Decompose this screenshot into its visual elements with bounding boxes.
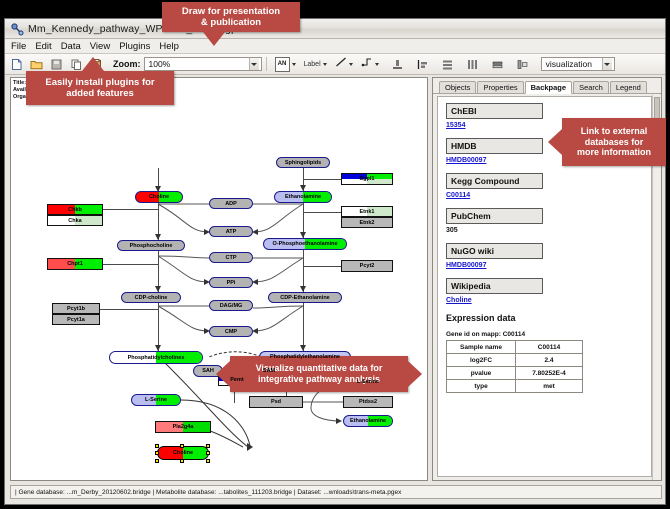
text-label-icon: AN: [275, 57, 290, 72]
visualization-combo[interactable]: visualization: [541, 57, 615, 71]
db-header-kegg-compound: Kegg Compound: [446, 173, 543, 189]
menubar: File Edit Data View Plugins Help: [5, 39, 665, 54]
tab-search[interactable]: Search: [573, 81, 609, 94]
node-cdp-choline[interactable]: CDP-choline: [121, 292, 181, 303]
align-left-icon[interactable]: [414, 56, 431, 73]
gene-pcyt2[interactable]: Pcyt2: [341, 260, 393, 272]
pathvisio-icon: [10, 22, 24, 36]
text-label-tool[interactable]: AN: [275, 57, 296, 72]
node-choline-selected[interactable]: Choline: [157, 446, 209, 460]
expression-data-table: Sample name C00114 log2FC 2.4 pvalue 7.8…: [446, 340, 583, 393]
node-label: CTP: [226, 255, 237, 261]
node-label: SAH: [202, 368, 214, 374]
selection-handle[interactable]: [155, 459, 159, 463]
db-link-nugo-wiki[interactable]: HMDB00097: [446, 262, 647, 269]
connector-tool[interactable]: [361, 55, 379, 73]
label-icon: Label: [304, 61, 321, 68]
menu-view[interactable]: View: [90, 41, 110, 52]
expression-data-title: Expression data: [446, 313, 647, 323]
db-link-kegg-compound[interactable]: C00114: [446, 192, 647, 199]
tab-objects[interactable]: Objects: [439, 81, 476, 94]
gene-label: Ptdss2: [359, 399, 377, 405]
gene-label: Psd: [271, 399, 281, 405]
gene-pla2g4a[interactable]: Pla2g4a: [155, 421, 211, 433]
visualization-value: visualization: [546, 59, 592, 69]
gene-label: Chka: [68, 218, 81, 224]
node-ppi[interactable]: PPi: [209, 277, 253, 288]
db-header-nugo-wiki: NuGO wiki: [446, 243, 543, 259]
new-file-icon[interactable]: [8, 56, 25, 73]
node-sphingolipids[interactable]: Sphingolipids: [276, 157, 330, 168]
gene-chpt1[interactable]: Chpt1: [47, 258, 103, 270]
callout-draw: Draw for presentation & publication: [162, 2, 300, 32]
table-row: pvalue 7.80252E-4: [447, 367, 583, 380]
callout-plugins-arrow-icon: [82, 57, 104, 71]
selection-handle[interactable]: [180, 459, 184, 463]
node-label: Phosphatidylethanolamine: [270, 354, 340, 360]
node-label: O-Phosphoethanolamine: [272, 241, 337, 247]
node-l-serine-left[interactable]: L-Serine: [131, 394, 181, 406]
callout-links-arrow-icon: [548, 129, 562, 155]
node-label: ATP: [226, 229, 237, 235]
node-label: Ethanolamine: [350, 418, 386, 424]
db-header-hmdb: HMDB: [446, 138, 543, 154]
status-bar: | Gene database: ...m_Derby_20120602.bri…: [10, 485, 662, 499]
selection-handle[interactable]: [155, 451, 159, 455]
distribute-vertical-icon[interactable]: [439, 56, 456, 73]
node-label: CMP: [225, 329, 237, 335]
node-label: L-Serine: [145, 397, 167, 403]
node-label: Choline: [173, 450, 193, 456]
menu-data[interactable]: Data: [61, 41, 81, 52]
table-row: Sample name C00114: [447, 341, 583, 354]
callout-draw-arrow-icon: [203, 32, 225, 46]
selection-handle[interactable]: [180, 444, 184, 448]
gene-etnk2[interactable]: Etnk2: [341, 217, 393, 228]
gene-pcyt1b[interactable]: Pcyt1b: [52, 303, 100, 314]
table-row: type met: [447, 380, 583, 393]
node-label: SAM: [263, 368, 275, 374]
distribute-horizontal-icon[interactable]: [464, 56, 481, 73]
node-dag-mg[interactable]: DAG/MG: [209, 300, 253, 311]
gene-label: Pla2g4a: [173, 424, 194, 430]
node-adp[interactable]: ADP: [209, 198, 253, 209]
callout-plugins: Easily install plugins for added feature…: [26, 71, 174, 105]
menu-edit[interactable]: Edit: [35, 41, 51, 52]
selection-handle[interactable]: [206, 444, 210, 448]
node-label: Phosphatidylcholines: [128, 355, 185, 361]
db-header-pubchem: PubChem: [446, 208, 543, 224]
gene-label: Sgpl1: [360, 176, 375, 182]
gene-label: Etnk2: [360, 220, 375, 226]
gene-etnk1[interactable]: Etnk1: [341, 206, 393, 217]
node-ethanolamine-right[interactable]: Ethanolamine: [343, 415, 393, 427]
db-header-chebi: ChEBI: [446, 103, 543, 119]
table-cell-value: met: [516, 380, 583, 393]
node-o-phosphoethanolamine[interactable]: O-Phosphoethanolamine: [263, 238, 347, 250]
node-label: CDP-choline: [135, 295, 168, 301]
selection-handle[interactable]: [206, 459, 210, 463]
node-cmp[interactable]: CMP: [209, 326, 253, 337]
screenshot-root: Mm_Kennedy_pathway_WP1771_45176.gpml Fil…: [0, 0, 670, 509]
node-label: DAG/MG: [220, 303, 243, 309]
node-phosphocholine[interactable]: Phosphocholine: [117, 240, 185, 251]
zoom-label: Zoom:: [113, 59, 141, 69]
align-bottom-icon[interactable]: [389, 56, 406, 73]
chevron-down-icon[interactable]: [602, 58, 612, 70]
node-ctp[interactable]: CTP: [209, 252, 253, 263]
menu-help[interactable]: Help: [159, 41, 179, 52]
chevron-down-icon[interactable]: [249, 58, 259, 70]
selection-handle[interactable]: [155, 444, 159, 448]
tab-backpage[interactable]: Backpage: [525, 81, 572, 95]
callout-links: Link to external databases for more info…: [562, 118, 666, 166]
gene-label: Pemt: [230, 377, 243, 383]
menu-plugins[interactable]: Plugins: [119, 41, 150, 52]
gene-label: Chpt1: [67, 261, 83, 267]
gene-sgpl1[interactable]: Sgpl1: [341, 173, 393, 185]
callout-visualize: Visualize quantitative data for integrat…: [230, 356, 408, 392]
line-tool[interactable]: [335, 55, 353, 73]
node-label: ADP: [225, 201, 237, 207]
node-label: Phosphocholine: [130, 243, 173, 249]
pathway-canvas[interactable]: Title: Availa Organ: [10, 77, 428, 481]
node-ethanolamine[interactable]: Ethanolamine: [274, 191, 332, 203]
table-cell-key: log2FC: [447, 354, 516, 367]
node-label: Choline: [149, 194, 169, 200]
node-label: Sphingolipids: [285, 160, 321, 166]
db-value-pubchem: 305: [446, 227, 647, 234]
table-cell-value: 2.4: [516, 354, 583, 367]
node-atp[interactable]: ATP: [209, 226, 253, 237]
gene-id-on-mapp: Gene id on mapp: C00114: [446, 331, 647, 338]
gene-chka[interactable]: Chka: [47, 215, 103, 226]
table-cell-value: 7.80252E-4: [516, 367, 583, 380]
callout-visualize-arrow-left-icon: [216, 361, 230, 387]
node-phosphatidylcholines[interactable]: Phosphatidylcholines: [109, 351, 203, 364]
gene-chkb[interactable]: Chkb: [47, 204, 103, 215]
node-cdp-ethanolamine[interactable]: CDP-Ethanolamine: [268, 292, 342, 303]
table-cell-value: C00114: [516, 341, 583, 354]
gene-label: Pcyt1a: [67, 317, 85, 323]
node-label: CDP-Ethanolamine: [280, 295, 330, 301]
gene-label: Etnk1: [360, 209, 375, 215]
table-cell-key: Sample name: [447, 341, 516, 354]
tab-properties[interactable]: Properties: [477, 81, 523, 94]
selection-handle[interactable]: [206, 451, 210, 455]
node-choline-top[interactable]: Choline: [135, 191, 183, 203]
gene-psd[interactable]: Psd: [249, 396, 303, 408]
line-icon: [335, 55, 347, 73]
table-cell-key: pvalue: [447, 367, 516, 380]
zoom-value: 100%: [149, 59, 171, 69]
connector-icon: [361, 55, 373, 73]
node-label: PPi: [227, 280, 236, 286]
stack-icon[interactable]: [489, 56, 506, 73]
status-bar-text: | Gene database: ...m_Derby_20120602.bri…: [15, 489, 401, 496]
table-row: log2FC 2.4: [447, 354, 583, 367]
side-panel-tabs: Objects Properties Backpage Search Legen…: [433, 78, 661, 94]
group-icon[interactable]: [514, 56, 531, 73]
save-icon[interactable]: [48, 56, 65, 73]
gene-ptdss2[interactable]: Ptdss2: [343, 396, 393, 408]
gene-label: Pcyt1b: [67, 306, 85, 312]
zoom-combo[interactable]: 100%: [144, 57, 262, 71]
gene-label: Pcyt2: [360, 263, 375, 269]
db-link-wikipedia[interactable]: Choline: [446, 297, 647, 304]
callout-visualize-arrow-right-icon: [408, 361, 422, 387]
label-tool[interactable]: Label: [304, 61, 327, 68]
gene-label: Chkb: [68, 207, 82, 213]
tab-legend[interactable]: Legend: [610, 81, 647, 94]
menu-file[interactable]: File: [11, 41, 26, 52]
db-header-wikipedia: Wikipedia: [446, 278, 543, 294]
toolbar-separator: [266, 57, 267, 71]
node-label: Ethanolamine: [285, 194, 321, 200]
open-folder-icon[interactable]: [28, 56, 45, 73]
window-titlebar: Mm_Kennedy_pathway_WP1771_45176.gpml: [5, 19, 665, 39]
gene-pcyt1a[interactable]: Pcyt1a: [52, 314, 100, 325]
node-label: L-Serine: [357, 379, 379, 385]
table-cell-key: type: [447, 380, 516, 393]
